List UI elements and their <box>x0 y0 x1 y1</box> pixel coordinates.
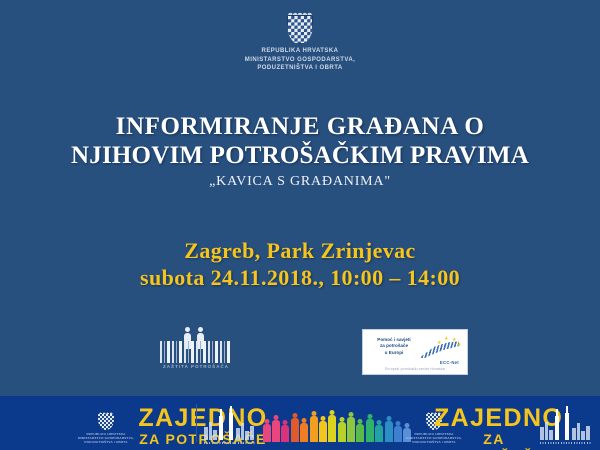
shield-icon <box>287 15 313 44</box>
croatian-coat-of-arms-icon <box>286 8 314 44</box>
ministry-header: REPUBLIKA HRVATSKA MINISTARSTVO GOSPODAR… <box>0 8 600 73</box>
barcode-logo-caption: ZAŠTITA POTROŠAČA <box>160 364 232 369</box>
crowd-figure <box>262 406 271 442</box>
ecc-text-line-3: u Europi <box>369 350 419 356</box>
crowd-figure <box>375 406 384 442</box>
banner-slogan: ZAJEDNO ZA POTROŠAČE <box>434 405 554 450</box>
event-location: Zagreb, Park Zrinjevac <box>0 238 600 264</box>
crown-icon <box>288 8 312 15</box>
ministry-name: REPUBLIKA HRVATSKA MINISTARSTVO GOSPODAR… <box>245 47 355 73</box>
crowd-figure <box>328 406 337 442</box>
crowd-figure <box>281 406 290 442</box>
title-line-2: NJIHOVIM POTROŠAČKIM PRAVIMA <box>0 141 600 170</box>
crowd-figure <box>300 406 309 442</box>
title-line-1: INFORMIRANJE GRAĐANA O <box>0 112 600 141</box>
event-datetime: subota 24.11.2018., 10:00 – 14:00 <box>0 264 600 292</box>
ministry-line-2: MINISTARSTVO GOSPODARSTVA, <box>245 56 355 65</box>
page-subtitle: „KAVICA S GRAĐANIMA" <box>0 174 600 190</box>
page-title: INFORMIRANJE GRAĐANA O NJIHOVIM POTROŠAČ… <box>0 112 600 170</box>
crowd-figure <box>337 406 346 442</box>
ecc-net-logo: Pomoć i savjeti za potrošače u Europi ★★… <box>362 329 468 375</box>
eu-swoosh-icon: ★★★★ <box>419 336 461 360</box>
logo-row: ZAŠTITA POTROŠAČA Pomoć i savjeti za pot… <box>0 327 600 383</box>
eu-stars-icon: ★★★★ <box>435 336 461 349</box>
banner-divider <box>196 404 197 442</box>
city-skyline-icon <box>204 410 256 440</box>
crowd-illustration <box>262 406 412 442</box>
crowd-figure <box>365 406 374 442</box>
checkerboard-pattern <box>288 16 312 43</box>
crowd-figure <box>346 406 355 442</box>
person-head <box>198 327 203 332</box>
ministry-line-1: REPUBLIKA HRVATSKA <box>245 47 355 56</box>
crowd-figure <box>393 406 402 442</box>
ecc-logo-text: Pomoć i savjeti za potrošače u Europi <box>369 337 419 356</box>
ministry-line-3: PODUZETNIŠTVA I OBRTA <box>245 64 355 73</box>
ecc-logo-footer: Europski potrošački centar Hrvatska <box>363 367 467 371</box>
crowd-figure <box>318 406 327 442</box>
poster-canvas: REPUBLIKA HRVATSKA MINISTARSTVO GOSPODAR… <box>0 0 600 450</box>
crowd-figure <box>271 406 280 442</box>
bottom-banner: REPUBLIKA HRVATSKA MINISTARSTVO GOSPODAR… <box>0 396 600 450</box>
banner-slogan-line-1: ZAJEDNO <box>434 405 554 431</box>
event-details: Zagreb, Park Zrinjevac subota 24.11.2018… <box>0 238 600 292</box>
zastita-potrosaca-logo: ZAŠTITA POTROŠAČA <box>160 327 232 377</box>
crowd-figure <box>309 406 318 442</box>
crowd-figure <box>356 406 365 442</box>
crowd-figure <box>384 406 393 442</box>
croatian-coat-of-arms-icon <box>98 410 114 430</box>
shield-icon <box>98 414 114 430</box>
barcode-icon <box>160 341 232 363</box>
city-skyline-icon <box>540 410 592 440</box>
banner-slogan-line-2: ZA POTROŠAČE <box>434 431 554 450</box>
skyline-base <box>204 442 256 444</box>
person-head <box>185 327 190 332</box>
ecc-net-mark: ECC-Net <box>440 360 459 365</box>
crowd-figure <box>290 406 299 442</box>
skyline-base <box>540 442 592 444</box>
